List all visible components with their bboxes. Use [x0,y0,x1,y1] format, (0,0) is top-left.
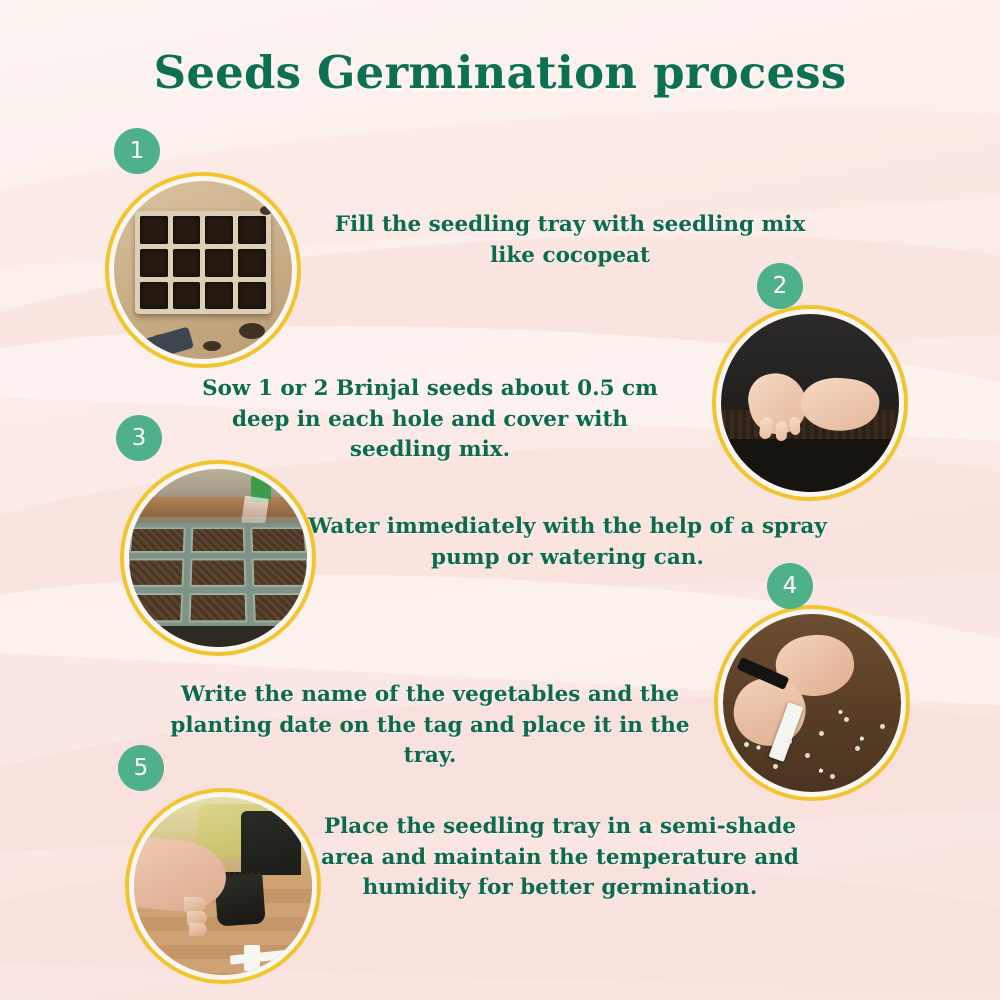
perlite-speck [876,767,881,772]
perlite-speck [880,724,885,729]
tray-cell [129,592,183,622]
tray-cell [238,282,266,310]
finger [189,923,207,936]
placing-pot-on-bench-image [134,797,312,975]
tray-cell [205,282,233,310]
tray-cell [173,249,201,277]
tray-cell [253,592,307,622]
step-4-photo [714,605,910,801]
step-2-caption: Sow 1 or 2 Brinjal seeds about 0.5 cm de… [190,374,670,466]
step-5-photo [125,788,321,984]
tray-cell [190,527,246,553]
step-3-photo [120,460,316,656]
perlite-speck [805,753,810,758]
step-2-badge: 2 [757,263,803,309]
seedling-tray-image [114,181,292,359]
photo-ring-border [714,605,910,801]
tray-cell [173,282,201,310]
soil-speck [260,206,272,215]
page-title: Seeds Germination process [0,46,1000,99]
step-3-caption: Water immediately with the help of a spr… [295,512,840,573]
perlite-speck [773,764,778,769]
perlite-speck [787,739,792,744]
tray-cell [205,216,233,244]
step-1-badge: 1 [114,128,160,174]
finger [776,421,788,441]
tray-cell [173,216,201,244]
infographic-poster: Seeds Germination process 1 [0,0,1000,1000]
shadow-area [129,626,307,647]
step-3-badge: 3 [116,415,162,461]
tray-cell [129,527,185,553]
tray-cell [140,216,168,244]
photo-ring-border [120,460,316,656]
bench-edge [129,497,307,517]
step-4-caption: Write the name of the vegetables and the… [150,680,710,772]
tray-cell [238,216,266,244]
perlite-speck [830,774,835,779]
tray-cell [205,249,233,277]
tray-cell [238,249,266,277]
soil-speck [125,195,134,202]
step-1-caption: Fill the seedling tray with seedling mix… [320,210,820,271]
perlite-speck [844,717,849,722]
step-1-photo [105,172,301,368]
step-2-photo [712,305,908,501]
tray-cell [140,249,168,277]
perlite-speck [744,742,749,747]
tray-cell [129,559,184,587]
cell-tray-grid [129,523,307,628]
finger [184,897,206,912]
soil-speck [203,341,221,351]
writing-plant-tag-image [723,614,901,792]
step-5-badge: 5 [118,745,164,791]
photo-ring-border [712,305,908,501]
watering-tray-image [129,469,307,647]
perlite-speck [759,778,764,783]
soil-speck [239,323,265,339]
finger [790,417,801,436]
step-5-caption: Place the seedling tray in a semi-shade … [300,812,820,904]
photo-ring-border [125,788,321,984]
perlite-speck [737,771,742,776]
step-4-badge: 4 [767,563,813,609]
tray-cell [188,592,248,622]
perlite-speck [855,746,860,751]
tray-cell [189,559,247,587]
tray-grid [135,211,270,314]
tray-cell [140,282,168,310]
perlite-speck [819,731,824,736]
hands-sowing-seeds-image [721,314,899,492]
photo-ring-border [105,172,301,368]
plant-tag-label [244,945,260,971]
garden-tool [140,327,194,359]
